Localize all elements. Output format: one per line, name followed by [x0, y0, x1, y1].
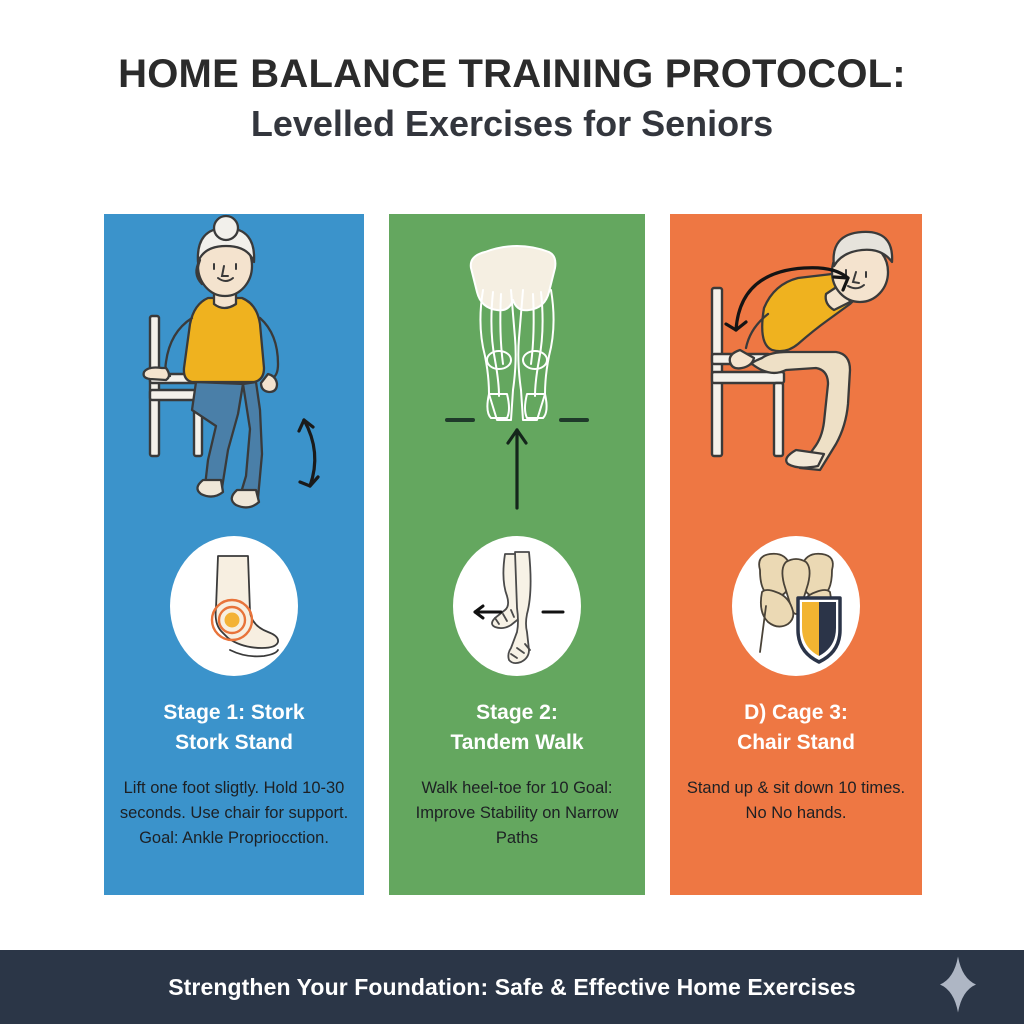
stage-heading-1: Stage 1: Stork Stork Stand: [119, 698, 349, 758]
title-line-1: HOME BALANCE TRAINING PROTOCOL:: [0, 52, 1024, 97]
page-title: HOME BALANCE TRAINING PROTOCOL: Levelled…: [0, 52, 1024, 145]
footer-banner: Strengthen Your Foundation: Safe & Effec…: [0, 950, 1024, 1024]
ankle-proprioception-badge: [170, 536, 298, 676]
stage-heading-2: Stage 2: Tandem Walk: [402, 698, 632, 758]
stage-heading-3: D) Cage 3: Chair Stand: [681, 698, 911, 758]
stage-body-2: Walk heel-toe for 10 Goal: Improve Stabi…: [398, 776, 636, 851]
senior-woman-stork-stand-illustration: [104, 214, 364, 526]
hip-protection-shield-badge: [732, 536, 860, 676]
footer-text: Strengthen Your Foundation: Safe & Effec…: [168, 974, 856, 1001]
title-line-2: Levelled Exercises for Seniors: [0, 103, 1024, 145]
stage-heading-2-line-1: Stage 2:: [402, 698, 632, 728]
senior-man-chair-stand-illustration: [670, 214, 922, 526]
stage-heading-2-line-2: Tandem Walk: [402, 728, 632, 758]
stage-panel-2[interactable]: Stage 2: Tandem Walk Walk heel-toe for 1…: [389, 214, 645, 895]
tandem-walk-feet-badge: [453, 536, 581, 676]
stage-heading-3-line-2: Chair Stand: [681, 728, 911, 758]
stage-panel-1[interactable]: Stage 1: Stork Stork Stand Lift one foot…: [104, 214, 364, 895]
stage-body-1: Lift one foot sligtly. Hold 10-30 second…: [115, 776, 353, 851]
stage-heading-1-line-2: Stork Stand: [119, 728, 349, 758]
stage-panel-3[interactable]: D) Cage 3: Chair Stand Stand up & sit do…: [670, 214, 922, 895]
stages-columns: Stage 1: Stork Stork Stand Lift one foot…: [104, 214, 922, 895]
four-point-sparkle-icon: [940, 957, 976, 1018]
legs-rear-view-illustration: [389, 214, 645, 526]
stage-body-3: Stand up & sit down 10 times. No No hand…: [677, 776, 915, 826]
stage-heading-1-line-1: Stage 1: Stork: [119, 698, 349, 728]
stage-heading-3-line-1: D) Cage 3:: [681, 698, 911, 728]
